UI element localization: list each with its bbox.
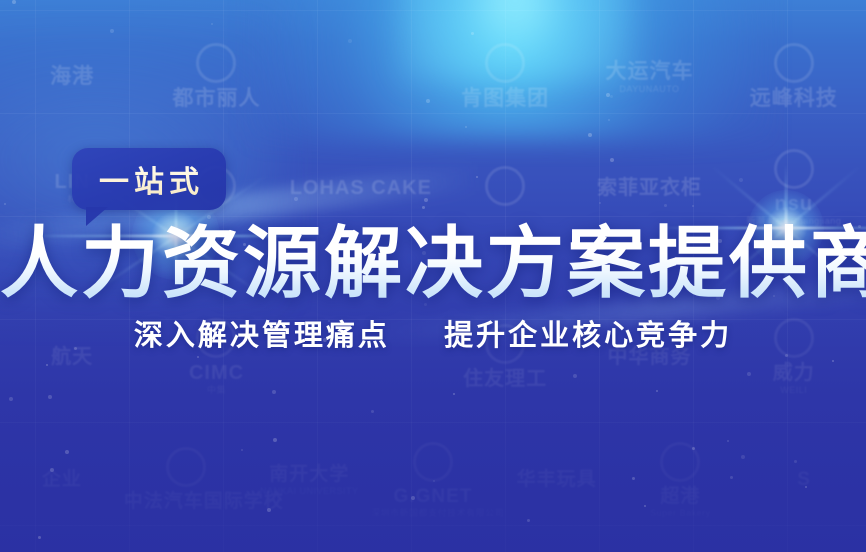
particle-dot: [65, 450, 69, 454]
particle-dot: [644, 505, 646, 507]
particle-dot: [664, 204, 667, 207]
particle-dot: [610, 158, 614, 162]
particle-dot: [692, 447, 695, 450]
particle-dot: [4, 203, 6, 205]
page-subtitle: 深入解决管理痛点 提升企业核心竞争力: [0, 312, 866, 354]
particle-dot: [422, 206, 425, 209]
particle-dot: [272, 390, 276, 394]
particle-dot: [453, 393, 455, 395]
particle-dot: [267, 508, 271, 512]
page-title: 人力资源解决方案提供商: [0, 221, 866, 307]
page-subtitle-right: 提升企业核心竞争力: [444, 318, 732, 352]
particle-dot: [48, 395, 52, 399]
particle-dot: [785, 354, 788, 357]
particle-dot: [424, 198, 428, 202]
particle-dot: [588, 133, 592, 137]
particle-dot: [610, 95, 613, 98]
particle-dot: [805, 486, 807, 488]
particle-dot: [573, 374, 577, 378]
particle-dot: [433, 480, 435, 482]
particle-dot: [794, 460, 797, 463]
particle-dot: [739, 178, 743, 182]
particle-dot: [273, 438, 277, 442]
particle-dot: [197, 356, 199, 358]
particle-dot: [692, 205, 694, 207]
hr-solution-banner: 海港都市丽人肯图集团大运汽车DAYUNAUTO远峰科技 LIN林LOHAS CA…: [0, 0, 866, 552]
particle-dot: [527, 519, 530, 522]
particle-dot: [110, 29, 114, 33]
particle-dot: [9, 397, 13, 401]
particle-dot: [426, 99, 430, 103]
particle-dot: [38, 536, 41, 539]
particle-dot: [632, 477, 635, 480]
particle-dot: [608, 119, 610, 121]
particle-dot: [348, 39, 352, 43]
particle-dot: [832, 360, 834, 362]
particle-dot: [741, 455, 745, 459]
particle-dot: [46, 364, 48, 366]
particle-dot: [471, 32, 474, 35]
particle-dot: [50, 468, 54, 472]
particle-dot: [411, 496, 415, 500]
particle-dot: [727, 440, 729, 442]
particle-dot: [747, 372, 751, 376]
particle-dot: [211, 23, 213, 25]
particle-dot: [599, 202, 601, 204]
particle-dot: [371, 410, 374, 413]
particle-dot: [465, 126, 467, 128]
one-stop-badge: 一站式: [72, 148, 226, 210]
one-stop-badge-label: 一站式: [72, 148, 226, 210]
particle-dot: [241, 449, 243, 451]
particle-dot: [12, 0, 16, 4]
particle-dot: [656, 390, 658, 392]
particle-dot: [730, 476, 733, 479]
page-subtitle-left: 深入解决管理痛点: [134, 318, 390, 352]
